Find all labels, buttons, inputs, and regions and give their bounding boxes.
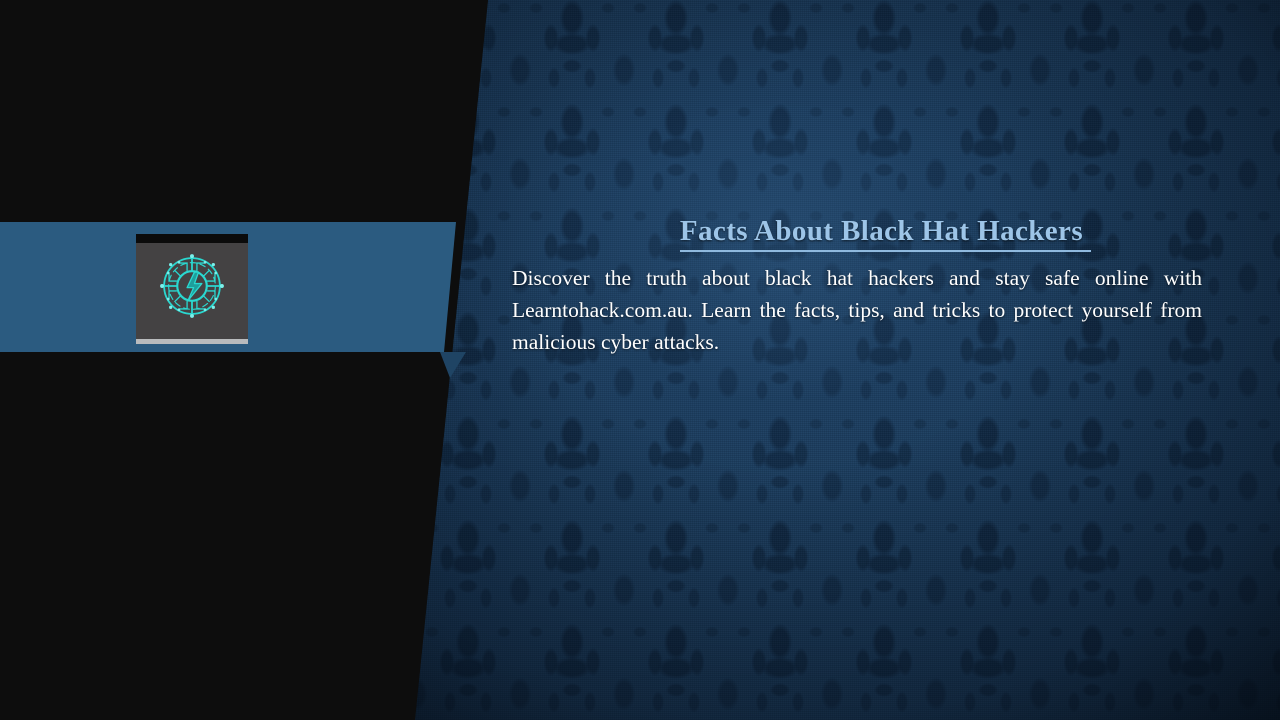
logo-image-frame[interactable]	[136, 234, 248, 344]
body-paragraph-text: Discover the truth about black hat hacke…	[512, 266, 1202, 354]
body-paragraph: Discover the truth about black hat hacke…	[512, 262, 1202, 358]
logo-frame-bottom-bar	[136, 339, 248, 344]
presentation-slide: Facts About Black Hat Hackers Discover t…	[0, 0, 1280, 720]
page-title-text: Facts About Black Hat Hackers	[680, 215, 1091, 252]
learntohack-circuit-logo-icon	[151, 245, 233, 327]
logo-frame-top-bar	[136, 234, 248, 243]
